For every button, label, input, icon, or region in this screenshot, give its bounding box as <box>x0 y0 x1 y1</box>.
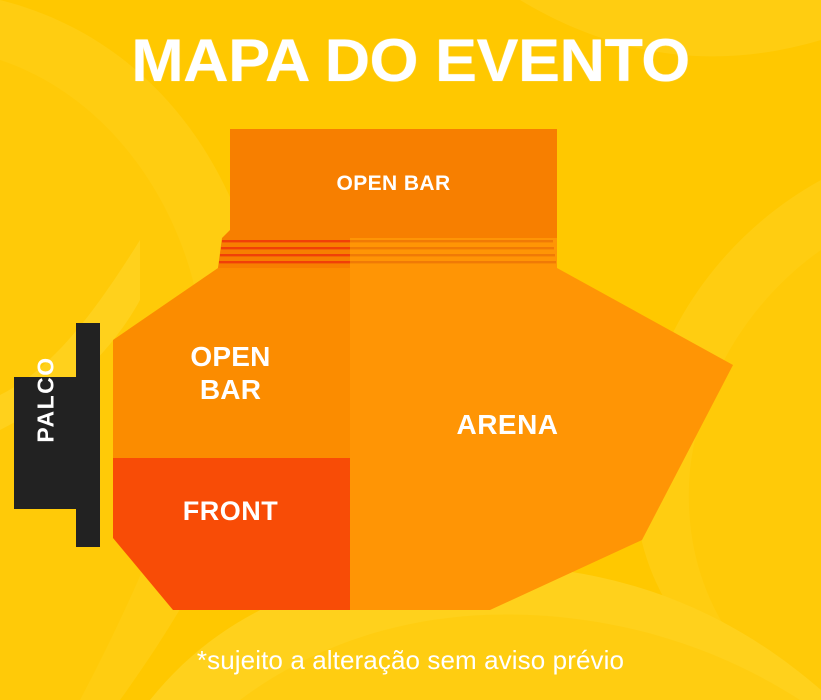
zone-front <box>113 458 350 610</box>
zone-arena <box>350 268 733 610</box>
footer-disclaimer: *sujeito a alteração sem aviso prévio <box>0 645 821 676</box>
stage-plate-join <box>76 377 100 509</box>
zone-open-bar-top-fill <box>230 129 557 238</box>
zone-open-bar-left <box>113 268 350 458</box>
barrier-strip-left-background <box>218 238 350 268</box>
venue-map <box>0 0 821 700</box>
barrier-strip-right-background <box>350 238 557 268</box>
event-map-page: MAPA DO EVENTO <box>0 0 821 700</box>
